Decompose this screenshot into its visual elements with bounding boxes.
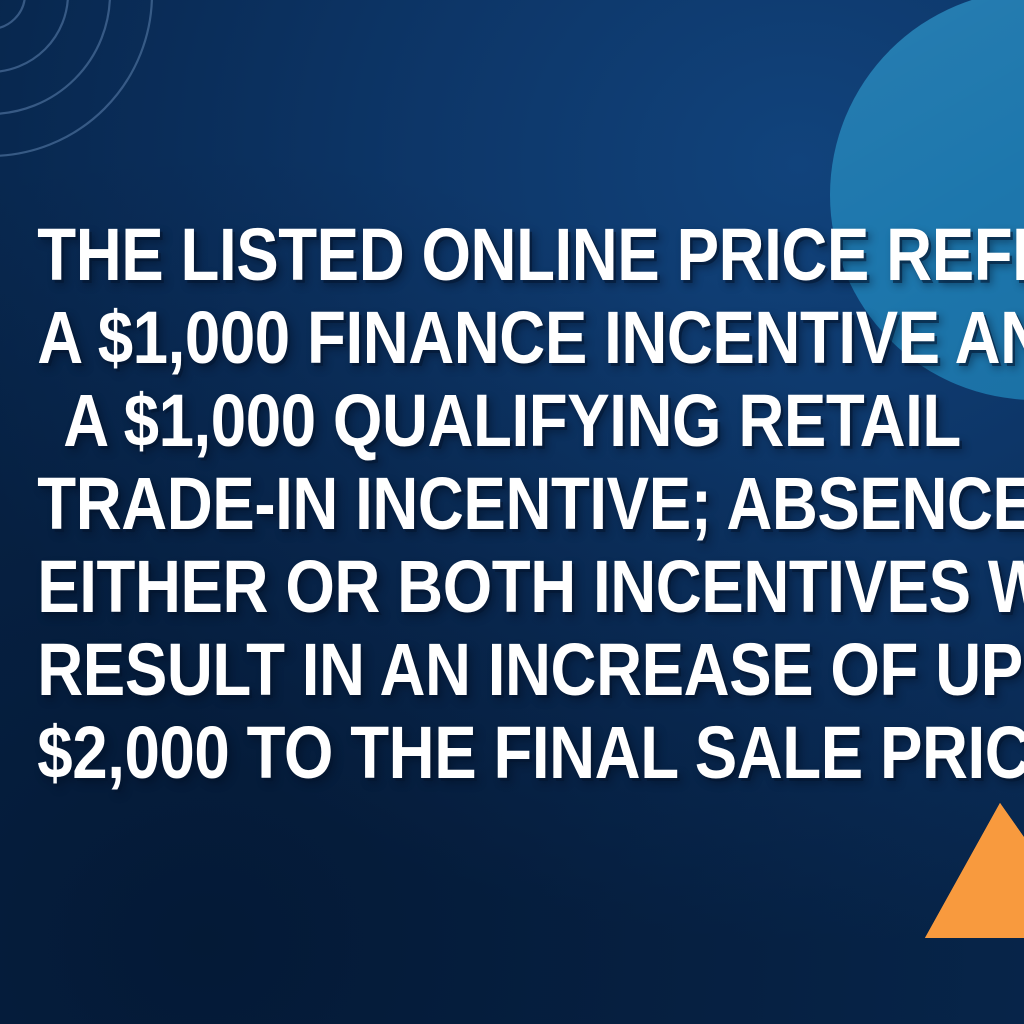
disclaimer-line: A $1,000 QUALIFYING RETAIL [37, 379, 986, 462]
disclaimer-line: $2,000 TO THE FINAL SALE PRICE. [37, 711, 986, 794]
disclaimer-line: TRADE-IN INCENTIVE; ABSENCE OF [37, 462, 986, 545]
disclaimer-line: THE LISTED ONLINE PRICE REFLECTS [37, 213, 986, 296]
disclaimer-line: A $1,000 FINANCE INCENTIVE AND [37, 296, 986, 379]
accent-triangle-icon [900, 795, 1024, 945]
disclaimer-graphic: THE LISTED ONLINE PRICE REFLECTS A $1,00… [0, 0, 1024, 1024]
disclaimer-line: EITHER OR BOTH INCENTIVES WILL [37, 545, 986, 628]
disclaimer-text: THE LISTED ONLINE PRICE REFLECTS A $1,00… [37, 213, 986, 794]
disclaimer-line: RESULT IN AN INCREASE OF UP TO [37, 628, 986, 711]
